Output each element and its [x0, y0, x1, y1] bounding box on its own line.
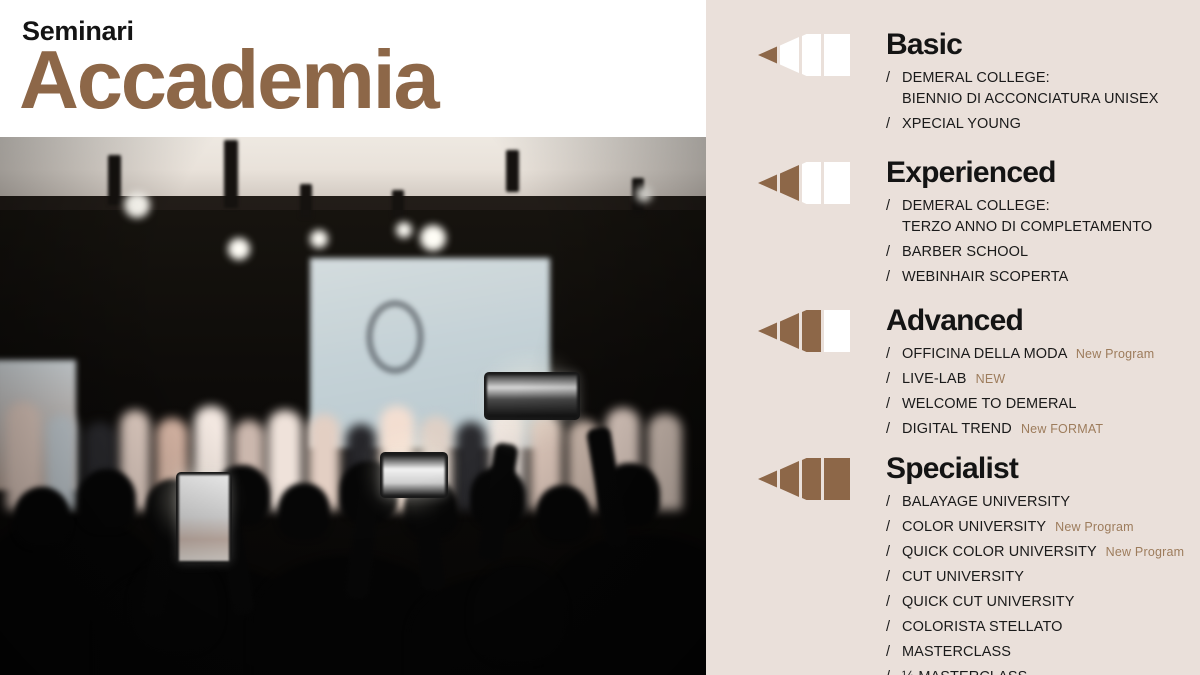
list-item-label: QUICK CUT UNIVERSITY: [902, 594, 1075, 610]
list-item-label: MASTERCLASS: [902, 644, 1011, 660]
list-item-label: CUT UNIVERSITY: [902, 569, 1024, 585]
bullet-slash: /: [886, 642, 890, 663]
section-title-advanced: Advanced: [886, 304, 1023, 337]
bullet-slash: /: [886, 517, 890, 538]
status-badge: New FORMAT: [1021, 422, 1103, 436]
bullet-slash: /: [886, 394, 890, 415]
list-item-label: DEMERAL COLLEGE:: [902, 198, 1050, 214]
section-items-experienced: / DEMERAL COLLEGE: TERZO ANNO DI COMPLET…: [886, 196, 1200, 292]
bullet-slash: /: [886, 592, 890, 613]
list-item-label: COLOR UNIVERSITY: [902, 519, 1046, 535]
level-arrow-experienced-icon: [758, 162, 850, 204]
list-item: / WELCOME TO DEMERAL: [886, 394, 1200, 415]
list-item: / XPECIAL YOUNG: [886, 114, 1200, 135]
left-column: Seminari Accademia: [0, 0, 706, 675]
list-item-label: DEMERAL COLLEGE:: [902, 70, 1050, 86]
level-arrow-specialist-icon: [758, 458, 850, 500]
list-item-label: LIVE-LAB: [902, 371, 966, 387]
section-items-advanced: / OFFICINA DELLA MODA New Program / LIVE…: [886, 344, 1200, 444]
section-title-basic: Basic: [886, 28, 962, 61]
list-item-label: OFFICINA DELLA MODA: [902, 346, 1067, 362]
slide-root: Seminari Accademia Basic / DEMERAL COLLE…: [0, 0, 1200, 675]
list-item: / CUT UNIVERSITY: [886, 567, 1200, 588]
list-item: / BARBER SCHOOL: [886, 242, 1200, 263]
level-arrow-basic-icon: [758, 34, 850, 76]
list-item-label: BALAYAGE UNIVERSITY: [902, 494, 1070, 510]
bullet-slash: /: [886, 242, 890, 263]
status-badge: New Program: [1106, 545, 1185, 559]
bullet-slash: /: [886, 344, 890, 365]
list-item: / WEBINHAIR SCOPERTA: [886, 267, 1200, 288]
bullet-slash: /: [886, 492, 890, 513]
section-items-specialist: / BALAYAGE UNIVERSITY / COLOR UNIVERSITY…: [886, 492, 1200, 675]
list-item: / OFFICINA DELLA MODA New Program: [886, 344, 1200, 365]
bullet-slash: /: [886, 567, 890, 588]
status-badge: New Program: [1055, 520, 1134, 534]
bullet-slash: /: [886, 419, 890, 440]
list-item: / MASTERCLASS: [886, 642, 1200, 663]
bullet-slash: /: [886, 542, 890, 563]
list-item-label: XPECIAL YOUNG: [902, 116, 1021, 132]
list-item-label-line2: BIENNIO DI ACCONCIATURA UNISEX: [902, 89, 1200, 110]
list-item-label: DIGITAL TREND: [902, 421, 1012, 437]
list-item-label: BARBER SCHOOL: [902, 244, 1028, 260]
section-title-specialist: Specialist: [886, 452, 1018, 485]
bullet-slash: /: [886, 196, 890, 217]
page-title: Accademia: [19, 38, 438, 121]
bullet-slash: /: [886, 617, 890, 638]
list-item: / DEMERAL COLLEGE: TERZO ANNO DI COMPLET…: [886, 196, 1200, 237]
list-item: / DIGITAL TREND New FORMAT: [886, 419, 1200, 440]
bullet-slash: /: [886, 267, 890, 288]
list-item: / BALAYAGE UNIVERSITY: [886, 492, 1200, 513]
bullet-slash: /: [886, 68, 890, 89]
list-item-label: QUICK COLOR UNIVERSITY: [902, 544, 1097, 560]
list-item: / COLORISTA STELLATO: [886, 617, 1200, 638]
list-item-label: COLORISTA STELLATO: [902, 619, 1063, 635]
bullet-slash: /: [886, 369, 890, 390]
list-item: / ½ MASTERCLASS: [886, 667, 1200, 675]
list-item-label: WELCOME TO DEMERAL: [902, 396, 1077, 412]
section-items-basic: / DEMERAL COLLEGE: BIENNIO DI ACCONCIATU…: [886, 68, 1200, 139]
list-item-label-line2: TERZO ANNO DI COMPLETAMENTO: [902, 217, 1200, 238]
bullet-slash: /: [886, 114, 890, 135]
list-item-label: WEBINHAIR SCOPERTA: [902, 269, 1068, 285]
list-item: / QUICK CUT UNIVERSITY: [886, 592, 1200, 613]
list-item: / LIVE-LAB NEW: [886, 369, 1200, 390]
title-card: Seminari Accademia: [0, 0, 706, 137]
section-title-experienced: Experienced: [886, 156, 1056, 189]
status-badge: NEW: [976, 372, 1006, 386]
list-item: / COLOR UNIVERSITY New Program: [886, 517, 1200, 538]
program-panel: Basic / DEMERAL COLLEGE: BIENNIO DI ACCO…: [706, 0, 1200, 675]
status-badge: New Program: [1076, 347, 1155, 361]
list-item: / DEMERAL COLLEGE: BIENNIO DI ACCONCIATU…: [886, 68, 1200, 109]
list-item-label: ½ MASTERCLASS: [902, 669, 1027, 675]
list-item: / QUICK COLOR UNIVERSITY New Program: [886, 542, 1200, 563]
bullet-slash: /: [886, 667, 890, 675]
level-arrow-advanced-icon: [758, 310, 850, 352]
